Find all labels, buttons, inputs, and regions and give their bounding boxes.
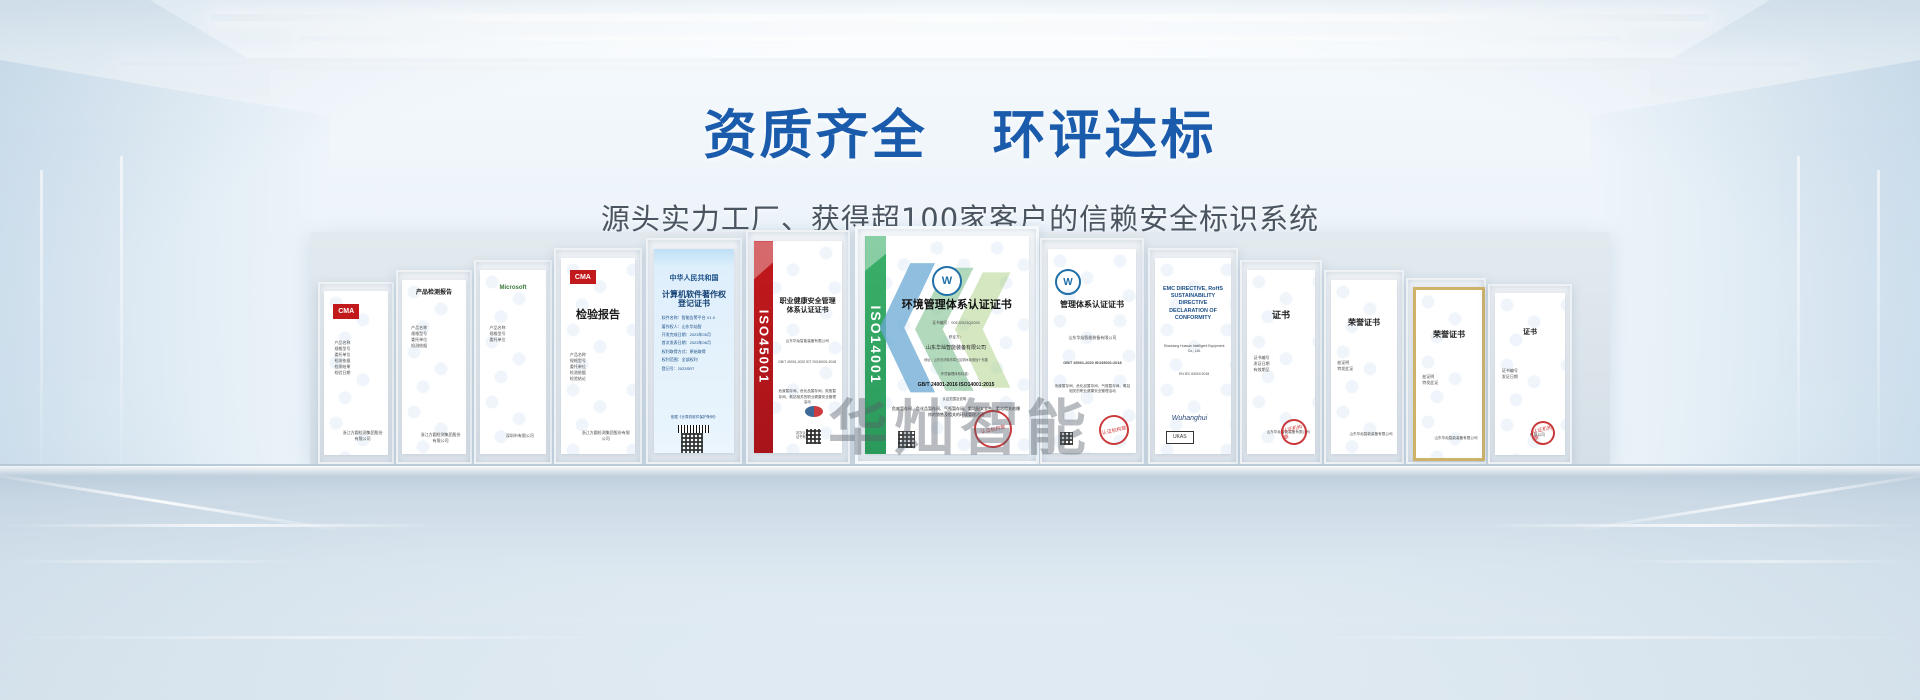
ukas-badge: UKAS (1166, 431, 1194, 444)
field-label: 软件名称： (662, 315, 682, 320)
certificate-frame[interactable]: W 管理体系认证证书 山东华灿智能装备有限公司 GB/T 45001-2020 … (1040, 238, 1144, 464)
certificate-standard: GB/T 24001-2016 ISO14001:2015 (891, 382, 1020, 390)
certificate-issuer: 山东华灿智能装备有限公司 (1053, 335, 1131, 341)
certificate-line: 特发此证 (1422, 380, 1479, 386)
certificate-field: 登记号：2023SR7 (662, 365, 730, 373)
certificate-watermark (402, 280, 465, 455)
certificate-issuer: 山东华灿智能装备有限公司 (1433, 436, 1479, 441)
certificate-issuer: 浙江方圆检测集团股份有限公司 (341, 430, 385, 442)
certificate-standard: EN IEC 63000:2018 (1161, 372, 1227, 377)
certificate-lines: 产品名称 规格型号 委托单位 检测依据 检验结论 (570, 352, 631, 382)
cma-badge: CMA (333, 304, 359, 319)
cma-badge: CMA (570, 270, 596, 284)
qr-code (681, 433, 703, 453)
certificate-issuer: 浙江方圆检测集团股份有限公司 (580, 430, 631, 442)
certificate-field: 著作权人：山东华灿智 (662, 323, 730, 331)
headline-left: 资质齐全 (704, 105, 928, 166)
field-value: 智能告警平台 V1.0 (682, 315, 715, 320)
certificate-field: 权利范围：全部权利 (662, 356, 730, 364)
floor-light-line (1620, 560, 1920, 563)
certificate-line: 检测依据 (411, 343, 462, 349)
floor-light-line (0, 560, 300, 563)
certificate-lines: 兹证明 特发此证 (1337, 360, 1394, 372)
certificate-card: 证书 证书编号 发证日期 有限公司 认证机构章 (1495, 293, 1565, 455)
certificate-line: 委托单位 (490, 337, 543, 343)
certificate-field: 首次发表日期：2023年06月 (662, 339, 730, 347)
certificate-line: 检验结论 (570, 376, 631, 382)
certificate-frame[interactable]: EMC DIRECTIVE, RoHS SUSTAINABILITY DIREC… (1148, 248, 1238, 464)
field-label: 权利范围： (662, 357, 682, 362)
holder-label: 获证方： (891, 335, 1020, 340)
certificate-watermark (480, 270, 545, 454)
field-value: 2023年05月 (690, 332, 711, 337)
certificate-card: 荣誉证书 兹证明 特发此证 山东华灿智能装备有限公司 (1413, 287, 1486, 460)
floor-light-line (0, 636, 620, 639)
certificate-card: 证书 证书编号 发证日期 有效期至 山东华灿智能装备有限公司 认证机构章 (1247, 270, 1316, 454)
field-value: 山东华灿智 (682, 324, 702, 329)
certificate-line: 有效期至 (1254, 367, 1312, 373)
certification-body-logo: W (932, 266, 962, 296)
certificate-field: 权利取得方式：原始取得 (662, 348, 730, 356)
certificate-address: 地址：山东省济南市章丘区明水街道经十东路 (891, 358, 1020, 363)
certificate-lines: 产品名称 规格型号 委托单位 检测依据 (411, 325, 462, 349)
certificate-card: 中华人民共和国 计算机软件著作权登记证书 软件名称：智能告警平台 V1.0 著作… (654, 249, 735, 453)
certificate-issuer: 山东华灿智能装备有限公司 (1348, 432, 1394, 437)
field-value: 2023年06月 (690, 340, 711, 345)
field-label: 首次发表日期： (662, 340, 690, 345)
ceiling-light-strip-2 (300, 36, 1620, 41)
certificate-spine: ISO45001 (754, 241, 773, 453)
certificate-frame[interactable]: 荣誉证书 兹证明 特发此证 山东华灿智能装备有限公司 (1406, 278, 1486, 464)
certificate-title: 管理体系认证证书 (1052, 300, 1133, 310)
certificate-issuer: 山东华灿智能装备有限公司 (777, 339, 838, 344)
certificate-frame[interactable]: ISO45001 职业健康安全管理体系认证证书 山东华灿智能装备有限公司 GB/… (746, 230, 850, 464)
page-title: 资质齐全 环评达标 (0, 93, 1920, 169)
certificate-standard: GB/T 45001-2020 ISO45001:2018 (1053, 361, 1131, 367)
spine-accent (754, 241, 773, 279)
certificate-title: 证书 (1251, 310, 1311, 321)
certificate-lines: 产品名称 规格型号 委托单位 检测依据 检测结果 检验日期 (334, 340, 384, 376)
ceiling-light-strip-1 (210, 14, 1710, 21)
headline-right: 环评达标 (992, 105, 1216, 166)
certificate-card: ISO14001 W 环境管理体系认证证书 证书编号：00EJ2023Q2093… (865, 236, 1029, 454)
qr-code (806, 429, 821, 444)
ceiling-recess (150, 0, 1770, 58)
certificate-title: 产品检测报告 (407, 290, 460, 297)
floor-light-line (1480, 524, 1920, 527)
certificate-frame[interactable]: 产品检测报告 产品名称 规格型号 委托单位 检测依据 浙江方圆检测集团股份有限公… (396, 270, 472, 464)
field-label: 权利取得方式： (662, 349, 690, 354)
certificate-issuer: 浙江方圆检测集团股份有限公司 (419, 432, 463, 444)
certificate-card: W 管理体系认证证书 山东华灿智能装备有限公司 GB/T 45001-2020 … (1048, 249, 1136, 453)
certificate-field: 软件名称：智能告警平台 V1.0 (662, 314, 730, 322)
certificate-title: EMC DIRECTIVE, RoHS SUSTAINABILITY DIREC… (1160, 286, 1227, 322)
certificate-lines: 证书编号 发证日期 有效期至 (1254, 355, 1312, 373)
certificate-title: 职业健康安全管理体系认证证书 (777, 298, 839, 315)
field-value: 全部权利 (682, 357, 698, 362)
certificate-card: EMC DIRECTIVE, RoHS SUSTAINABILITY DIREC… (1155, 258, 1231, 453)
certificate-title: 计算机软件著作权登记证书 (658, 290, 729, 309)
certificate-frame[interactable]: 中华人民共和国 计算机软件著作权登记证书 软件名称：智能告警平台 V1.0 著作… (646, 238, 742, 464)
certificate-number: 证书编号：00EJ2023Q2093 (891, 321, 1020, 327)
certificate-frame[interactable]: CMA 检验报告 产品名称 规格型号 委托单位 检测依据 检验结论 浙江方圆检测… (554, 248, 642, 464)
field-label: 登记号： (662, 366, 678, 371)
certificate-issuer: Shandong Huacan Intelligent Equipment Co… (1161, 344, 1227, 354)
certificate-scope: 危废暂存间、危化品暂存间、氮瓶暂存间、氨站相关的职业健康安全管理活动 (777, 389, 838, 405)
certificate-frame-featured[interactable]: ISO14001 W 环境管理体系认证证书 证书编号：00EJ2023Q2093… (855, 226, 1039, 464)
certificate-frame[interactable]: 证书 证书编号 发证日期 有限公司 认证机构章 (1488, 284, 1572, 464)
certificate-title: 荣誉证书 (1420, 330, 1479, 340)
certificate-card: CMA 检验报告 产品名称 规格型号 委托单位 检测依据 检验结论 浙江方圆检测… (561, 258, 635, 453)
certificate-field: 开发完成日期：2023年05月 (662, 331, 730, 339)
certificate-frame[interactable]: 荣誉证书 兹证明 特发此证 山东华灿智能装备有限公司 (1324, 270, 1404, 464)
qr-code (1060, 432, 1073, 445)
certificate-card: 产品检测报告 产品名称 规格型号 委托单位 检测依据 浙江方圆检测集团股份有限公… (402, 280, 465, 455)
certificate-card: Microsoft 产品名称 规格型号 委托单位 深圳市有限公司 (480, 270, 545, 454)
certificate-lines: 兹证明 特发此证 (1422, 374, 1479, 386)
certificate-line: 检验日期 (334, 370, 384, 376)
certificate-frame[interactable]: Microsoft 产品名称 规格型号 委托单位 深圳市有限公司 (474, 260, 552, 464)
field-label: 著作权人： (662, 324, 682, 329)
signature: Wuhanghui (1172, 415, 1207, 422)
certificate-line: 特发此证 (1337, 366, 1394, 372)
ceiling-light-strip-3 (120, 62, 1800, 66)
certificate-lines: 产品名称 规格型号 委托单位 (490, 325, 543, 343)
certificate-footer: 依据《计算机软件保护条例》 (660, 415, 728, 420)
certificate-holder: 山东华灿智能装备有限公司 (891, 345, 1020, 353)
iaf-badge (805, 406, 823, 417)
certificate-header: 中华人民共和国 (658, 275, 729, 283)
standard-label: 环境管理体系标准： (891, 372, 1020, 377)
certificate-card: CMA 产品名称 规格型号 委托单位 检测依据 检测结果 检验日期 浙江方圆检测… (324, 291, 387, 455)
field-label: 开发完成日期： (662, 332, 690, 337)
banner-stage: 资质齐全 环评达标 源头实力工厂、获得超100家客户的信赖安全标识系统 CMA … (0, 0, 1920, 700)
certificate-card: ISO45001 职业健康安全管理体系认证证书 山东华灿智能装备有限公司 GB/… (754, 241, 842, 453)
floor-light-line (1300, 636, 1920, 639)
certificate-frame[interactable]: 证书 证书编号 发证日期 有效期至 山东华灿智能装备有限公司 认证机构章 (1240, 260, 1322, 464)
certificate-standard: GB/T 45001-2020 IDT ISO45001:2018 (777, 360, 838, 365)
certificate-title: 检验报告 (565, 309, 630, 322)
certificate-fields: 软件名称：智能告警平台 V1.0 著作权人：山东华灿智 开发完成日期：2023年… (662, 314, 730, 373)
certificate-title: 荣誉证书 (1335, 318, 1394, 328)
certificate-card: 荣誉证书 兹证明 特发此证 山东华灿智能装备有限公司 (1331, 280, 1398, 455)
qr-code (898, 431, 915, 448)
certificate-line: 发证日期 (1502, 374, 1562, 380)
certificate-shelf: CMA 产品名称 规格型号 委托单位 检测依据 检测结果 检验日期 浙江方圆检测… (310, 232, 1610, 464)
field-value: 原始取得 (690, 349, 706, 354)
scope-label: 认证范围及说明： (891, 397, 1020, 402)
barcode (678, 425, 710, 433)
field-value: 2023SR7 (678, 366, 695, 371)
certificate-header-band (654, 249, 735, 267)
certificate-frame[interactable]: CMA 产品名称 规格型号 委托单位 检测依据 检测结果 检验日期 浙江方圆检测… (318, 282, 394, 464)
spine-standard-label: ISO45001 (756, 310, 771, 385)
certificate-issuer: 深圳市有限公司 (497, 433, 542, 439)
floor-reflection (310, 466, 1610, 626)
certificate-title: 证书 (1499, 329, 1561, 337)
certificate-scope: 危废暂存间、危化品暂存间、气瓶暂存间、氨站相关的职业健康安全管理活动 (1053, 384, 1131, 395)
certificate-title: Microsoft (486, 285, 541, 292)
certificate-lines: 证书编号 发证日期 (1502, 368, 1562, 380)
certificate-title: 环境管理体系认证证书 (891, 299, 1022, 312)
floor-light-line (0, 524, 440, 527)
